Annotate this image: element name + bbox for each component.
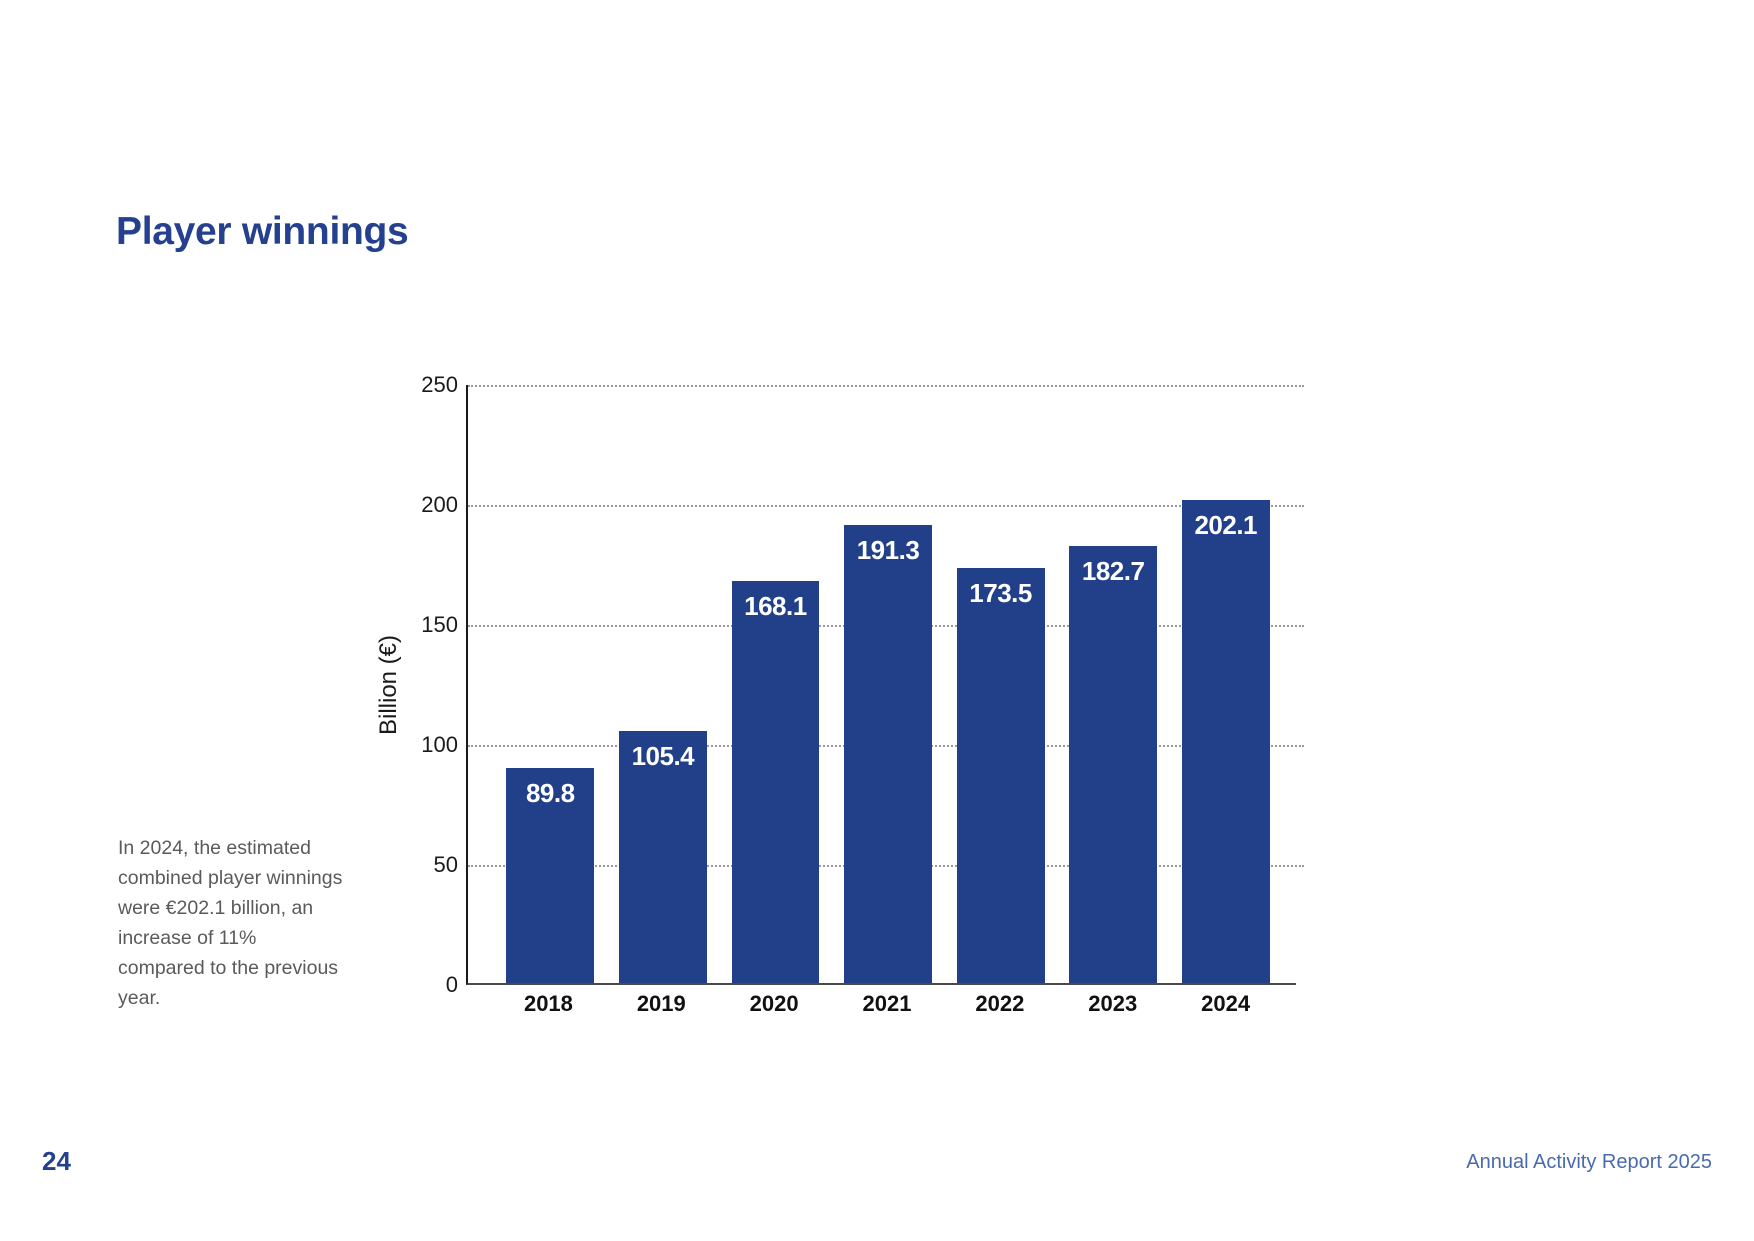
footer-report-name: Annual Activity Report 2025: [1466, 1151, 1712, 1174]
bar-series: 89.8105.4168.1191.3173.5182.7202.1: [468, 385, 1296, 983]
bar-value-label: 105.4: [632, 741, 695, 772]
bar[interactable]: 202.1: [1182, 500, 1270, 983]
bar-value-label: 191.3: [857, 535, 920, 566]
page-title: Player winnings: [116, 210, 408, 254]
y-axis-tick-labels: 050100150200250: [410, 385, 458, 985]
x-axis-tick: 2024: [1169, 991, 1282, 1017]
bar-value-label: 182.7: [1082, 556, 1145, 587]
y-axis-title-label: Billion (€): [375, 635, 403, 735]
bar[interactable]: 105.4: [619, 731, 707, 983]
y-axis-tick: 200: [421, 492, 458, 518]
bar-slot: 191.3: [832, 385, 945, 983]
bar-slot: 89.8: [494, 385, 607, 983]
y-axis-tick: 50: [434, 852, 458, 878]
bar-slot: 202.1: [1169, 385, 1282, 983]
bar[interactable]: 173.5: [957, 568, 1045, 983]
y-axis-tick: 100: [421, 732, 458, 758]
bar[interactable]: 182.7: [1069, 546, 1157, 983]
bar-slot: 173.5: [944, 385, 1057, 983]
y-axis-tick: 150: [421, 612, 458, 638]
side-note-paragraph: In 2024, the estimated combined player w…: [118, 833, 343, 1013]
bar[interactable]: 89.8: [506, 768, 594, 983]
x-axis-tick: 2018: [492, 991, 605, 1017]
bar[interactable]: 168.1: [732, 581, 820, 983]
x-axis-tick: 2023: [1056, 991, 1169, 1017]
plot-area: 89.8105.4168.1191.3173.5182.7202.1: [466, 385, 1296, 985]
bar-slot: 182.7: [1057, 385, 1170, 983]
bar-value-label: 168.1: [744, 591, 807, 622]
bar-value-label: 89.8: [526, 778, 575, 809]
bar-slot: 105.4: [607, 385, 720, 983]
bar[interactable]: 191.3: [844, 525, 932, 983]
bar-value-label: 173.5: [969, 578, 1032, 609]
player-winnings-bar-chart: Billion (€) 050100150200250 89.8105.4168…: [380, 385, 1390, 1025]
footer-page-number: 24: [42, 1146, 71, 1177]
x-axis-tick-labels: 2018201920202021202220232024: [466, 991, 1296, 1017]
bar-value-label: 202.1: [1194, 510, 1257, 541]
y-axis-tick: 250: [421, 372, 458, 398]
y-axis-tick: 0: [446, 972, 458, 998]
x-axis-tick: 2022: [943, 991, 1056, 1017]
x-axis-tick: 2019: [605, 991, 718, 1017]
y-axis-title: Billion (€): [372, 385, 406, 985]
x-axis-tick: 2020: [718, 991, 831, 1017]
bar-slot: 168.1: [719, 385, 832, 983]
x-axis-tick: 2021: [831, 991, 944, 1017]
